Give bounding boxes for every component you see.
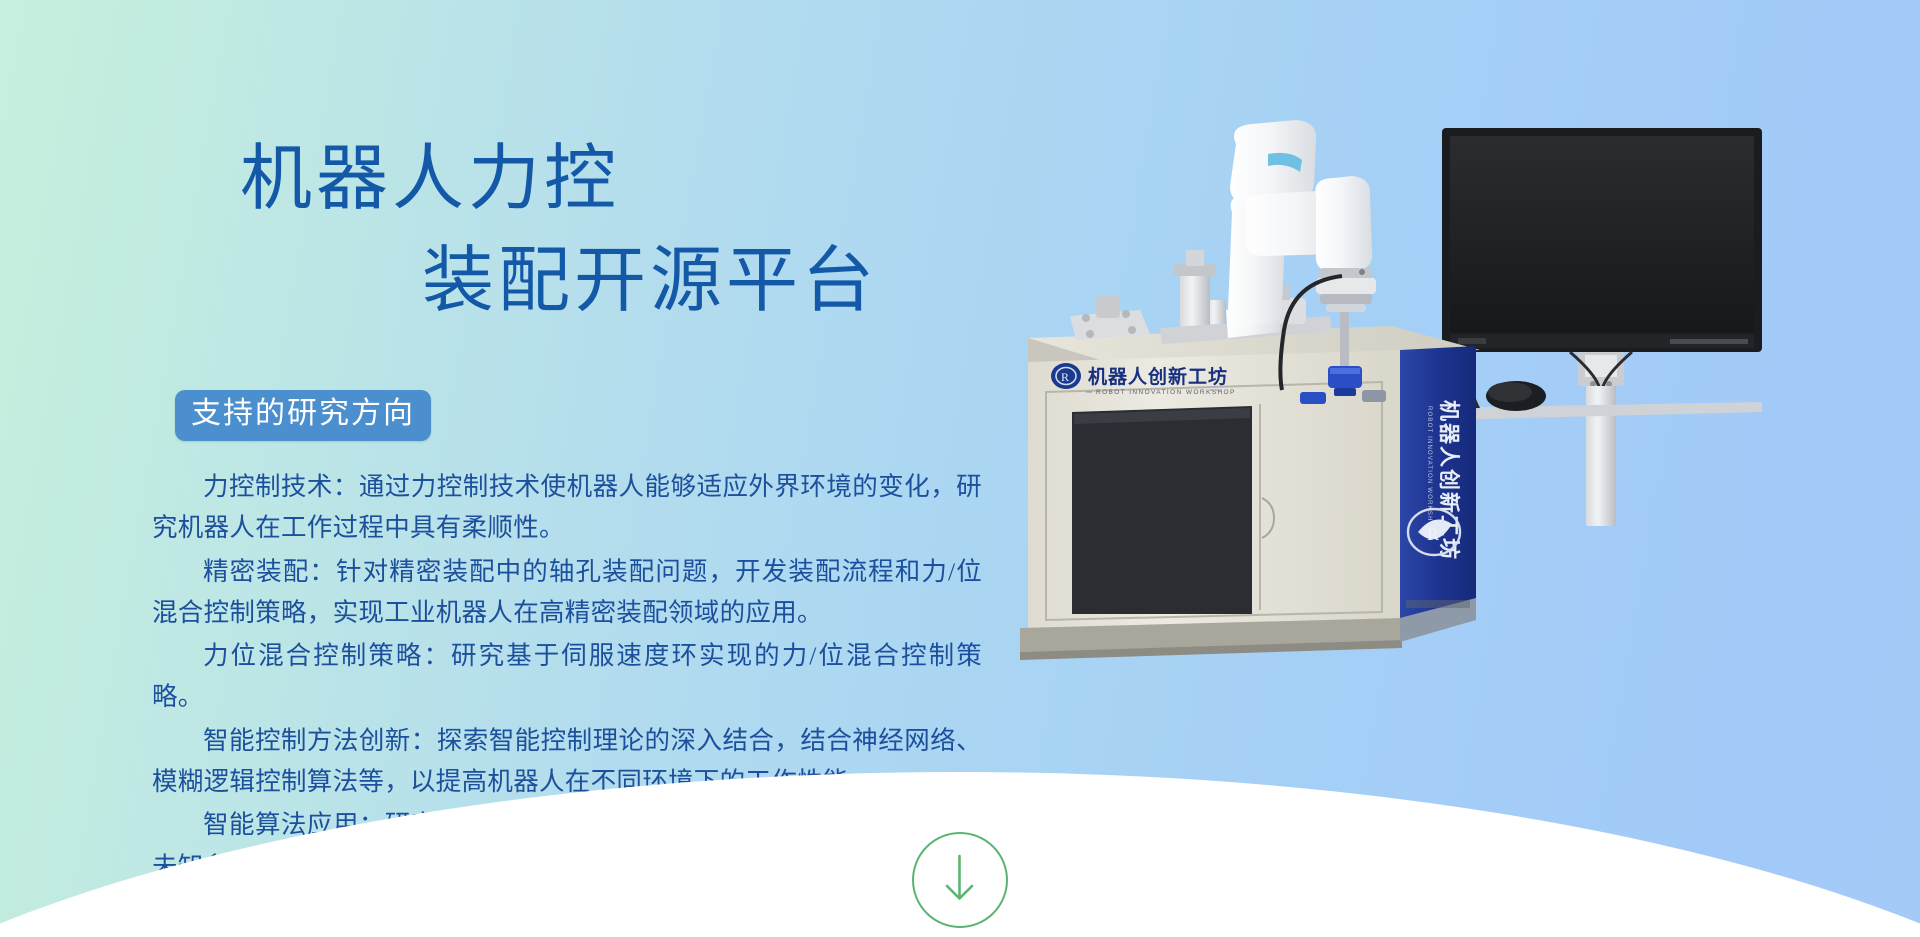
svg-text:R: R (1061, 370, 1069, 384)
workbench-fixture (1070, 250, 1332, 344)
headline-line-2: 装配开源平台 (240, 230, 878, 332)
section-badge: 支持的研究方向 (175, 390, 431, 441)
page-title: 机器人力控 装配开源平台 (240, 128, 878, 332)
svg-text:机器人创新工坊: 机器人创新工坊 (1437, 400, 1461, 561)
headline-line-1: 机器人力控 (240, 128, 878, 230)
research-item: 力控制技术：通过力控制技术使机器人能够适应外界环境的变化，研究机器人在工作过程中… (152, 466, 982, 549)
arrow-down-icon (914, 834, 1005, 925)
svg-text:机器人创新工坊: 机器人创新工坊 (1088, 365, 1228, 388)
hero-banner: R 机器人创新工坊 ROBOT INNOVATION WORKSHOP 机器人创… (0, 0, 1920, 937)
force-sensor (1316, 268, 1376, 312)
research-item: 力位混合控制策略：研究基于伺服速度环实现的力/位混合控制策略。 (152, 635, 982, 718)
equipment-photo: R 机器人创新工坊 ROBOT INNOVATION WORKSHOP 机器人创… (1010, 100, 1810, 800)
svg-text:R: R (1427, 524, 1439, 544)
mouse (1486, 381, 1546, 411)
blue-side-panel: 机器人创新工坊 ROBOT INNOVATION WORKSHOP R (1400, 346, 1476, 642)
scroll-down-button[interactable] (912, 832, 1008, 928)
svg-text:ROBOT INNOVATION WORKSHOP: ROBOT INNOVATION WORKSHOP (1426, 406, 1432, 533)
research-item: 精密装配：针对精密装配中的轴孔装配问题，开发装配流程和力/位混合控制策略，实现工… (152, 551, 982, 634)
monitor (1442, 128, 1762, 352)
monitor-stand (1570, 352, 1632, 526)
